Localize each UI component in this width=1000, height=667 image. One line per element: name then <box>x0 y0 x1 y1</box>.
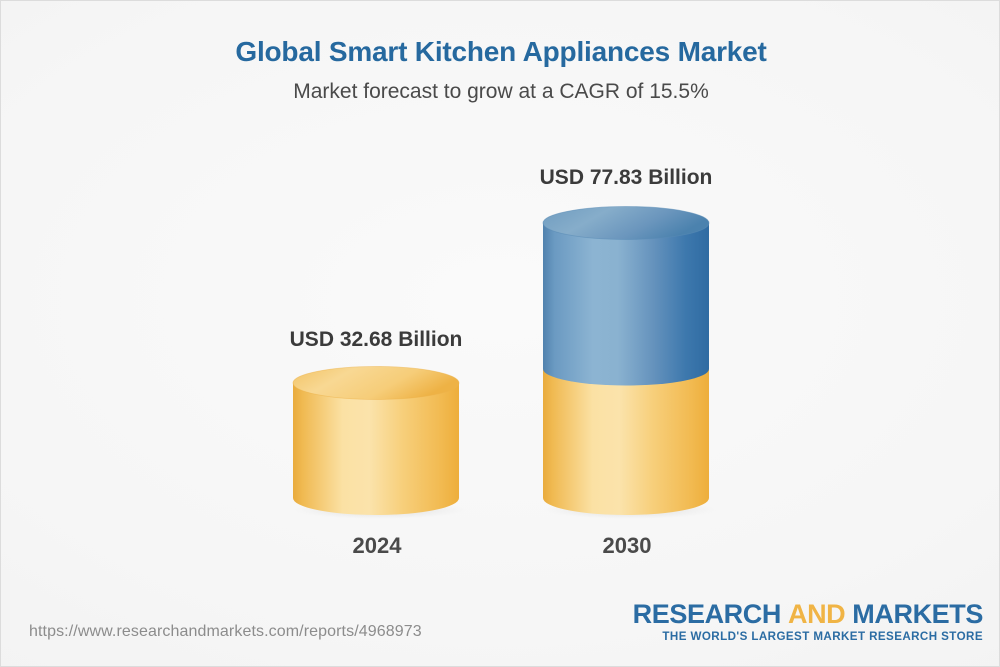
cylinder-2030-segment-growth <box>543 223 709 385</box>
infographic-canvas: Global Smart Kitchen Appliances Market M… <box>0 0 1000 667</box>
cylinder-2030-segment-base <box>543 369 709 515</box>
research-and-markets-logo[interactable]: RESEARCHANDMARKETS THE WORLD'S LARGEST M… <box>633 601 983 643</box>
logo-word-markets: MARKETS <box>852 599 983 629</box>
bar-value-label-2030: USD 77.83 Billion <box>476 166 776 190</box>
logo-tagline: THE WORLD'S LARGEST MARKET RESEARCH STOR… <box>633 631 983 643</box>
chart-plot-area: USD 32.68 Billion <box>1 1 1000 667</box>
bar-cylinder-2030 <box>542 207 712 517</box>
cylinder-2030-svg <box>542 207 712 517</box>
logo-word-research: RESEARCH <box>633 599 781 629</box>
cylinder-2024-body <box>293 383 459 515</box>
bar-cylinder-2024 <box>292 367 462 517</box>
bar-category-label-2030: 2030 <box>477 533 777 559</box>
bar-value-label-2024: USD 32.68 Billion <box>226 328 526 352</box>
logo-word-and: AND <box>788 599 845 629</box>
report-url[interactable]: https://www.researchandmarkets.com/repor… <box>29 623 422 641</box>
cylinder-2024-svg <box>292 367 462 517</box>
logo-wordmark: RESEARCHANDMARKETS <box>633 601 983 628</box>
